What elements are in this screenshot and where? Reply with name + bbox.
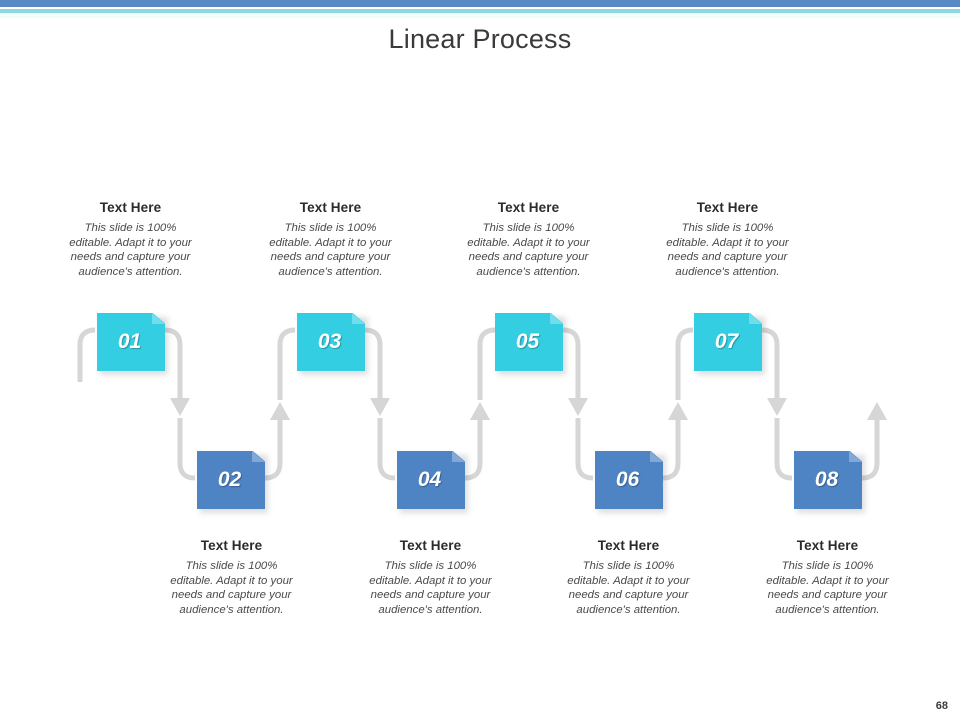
bottom-step-heading-2: Text Here bbox=[362, 538, 499, 553]
slide-canvas: Linear Process .ln{fill:none;stroke:#d6d… bbox=[0, 0, 960, 720]
bottom-step-text-1: Text Here This slide is 100% editable. A… bbox=[163, 538, 300, 617]
top-step-number-2: 03 bbox=[318, 330, 341, 354]
arrowhead-up-1 bbox=[270, 402, 290, 420]
top-step-body-4: This slide is 100% editable. Adapt it to… bbox=[659, 221, 796, 279]
arrowhead-down-1 bbox=[170, 398, 190, 416]
top-step-box-2[interactable]: 03 bbox=[297, 313, 365, 371]
bottom-step-box-4[interactable]: 08 bbox=[794, 451, 862, 509]
top-step-box-3[interactable]: 05 bbox=[495, 313, 563, 371]
top-step-number-3: 05 bbox=[516, 330, 539, 354]
top-step-text-3: Text Here This slide is 100% editable. A… bbox=[460, 200, 597, 279]
arrowhead-down-2 bbox=[370, 398, 390, 416]
top-accent-bar-pale bbox=[0, 13, 960, 18]
top-accent-bar-blue bbox=[0, 0, 960, 7]
bottom-step-body-2: This slide is 100% editable. Adapt it to… bbox=[362, 559, 499, 617]
top-step-heading-2: Text Here bbox=[262, 200, 399, 215]
bottom-step-heading-3: Text Here bbox=[560, 538, 697, 553]
top-step-box-4[interactable]: 07 bbox=[694, 313, 762, 371]
arrowhead-up-4 bbox=[867, 402, 887, 420]
connector-entry bbox=[80, 330, 95, 382]
page-title: Linear Process bbox=[0, 24, 960, 55]
bottom-step-number-2: 04 bbox=[418, 468, 441, 492]
connector-04-05-b bbox=[480, 330, 495, 400]
bottom-step-number-1: 02 bbox=[218, 468, 241, 492]
connector-03-04-b bbox=[380, 418, 395, 478]
bottom-step-box-3[interactable]: 06 bbox=[595, 451, 663, 509]
bottom-step-heading-1: Text Here bbox=[163, 538, 300, 553]
arrowhead-down-3 bbox=[568, 398, 588, 416]
arrowhead-up-2 bbox=[470, 402, 490, 420]
connector-06-07-b bbox=[678, 330, 693, 400]
top-step-body-1: This slide is 100% editable. Adapt it to… bbox=[62, 221, 199, 279]
bottom-step-box-1[interactable]: 02 bbox=[197, 451, 265, 509]
bottom-step-body-3: This slide is 100% editable. Adapt it to… bbox=[560, 559, 697, 617]
top-step-number-4: 07 bbox=[715, 330, 738, 354]
top-step-text-4: Text Here This slide is 100% editable. A… bbox=[659, 200, 796, 279]
top-step-heading-3: Text Here bbox=[460, 200, 597, 215]
bottom-step-number-4: 08 bbox=[815, 468, 838, 492]
bottom-step-text-3: Text Here This slide is 100% editable. A… bbox=[560, 538, 697, 617]
bottom-step-text-4: Text Here This slide is 100% editable. A… bbox=[759, 538, 896, 617]
bottom-step-body-4: This slide is 100% editable. Adapt it to… bbox=[759, 559, 896, 617]
connector-05-06-b bbox=[578, 418, 593, 478]
arrowhead-down-4 bbox=[767, 398, 787, 416]
arrowhead-up-3 bbox=[668, 402, 688, 420]
connector-01-02-b bbox=[180, 418, 195, 478]
top-step-box-1[interactable]: 01 bbox=[97, 313, 165, 371]
top-step-heading-4: Text Here bbox=[659, 200, 796, 215]
connector-02-03-b bbox=[280, 330, 295, 400]
top-step-body-2: This slide is 100% editable. Adapt it to… bbox=[262, 221, 399, 279]
top-step-body-3: This slide is 100% editable. Adapt it to… bbox=[460, 221, 597, 279]
bottom-step-text-2: Text Here This slide is 100% editable. A… bbox=[362, 538, 499, 617]
bottom-step-box-2[interactable]: 04 bbox=[397, 451, 465, 509]
top-step-heading-1: Text Here bbox=[62, 200, 199, 215]
top-step-text-2: Text Here This slide is 100% editable. A… bbox=[262, 200, 399, 279]
top-step-text-1: Text Here This slide is 100% editable. A… bbox=[62, 200, 199, 279]
page-number: 68 bbox=[936, 700, 948, 712]
bottom-step-body-1: This slide is 100% editable. Adapt it to… bbox=[163, 559, 300, 617]
bottom-step-number-3: 06 bbox=[616, 468, 639, 492]
connector-07-08-b bbox=[777, 418, 792, 478]
top-step-number-1: 01 bbox=[118, 330, 141, 354]
bottom-step-heading-4: Text Here bbox=[759, 538, 896, 553]
